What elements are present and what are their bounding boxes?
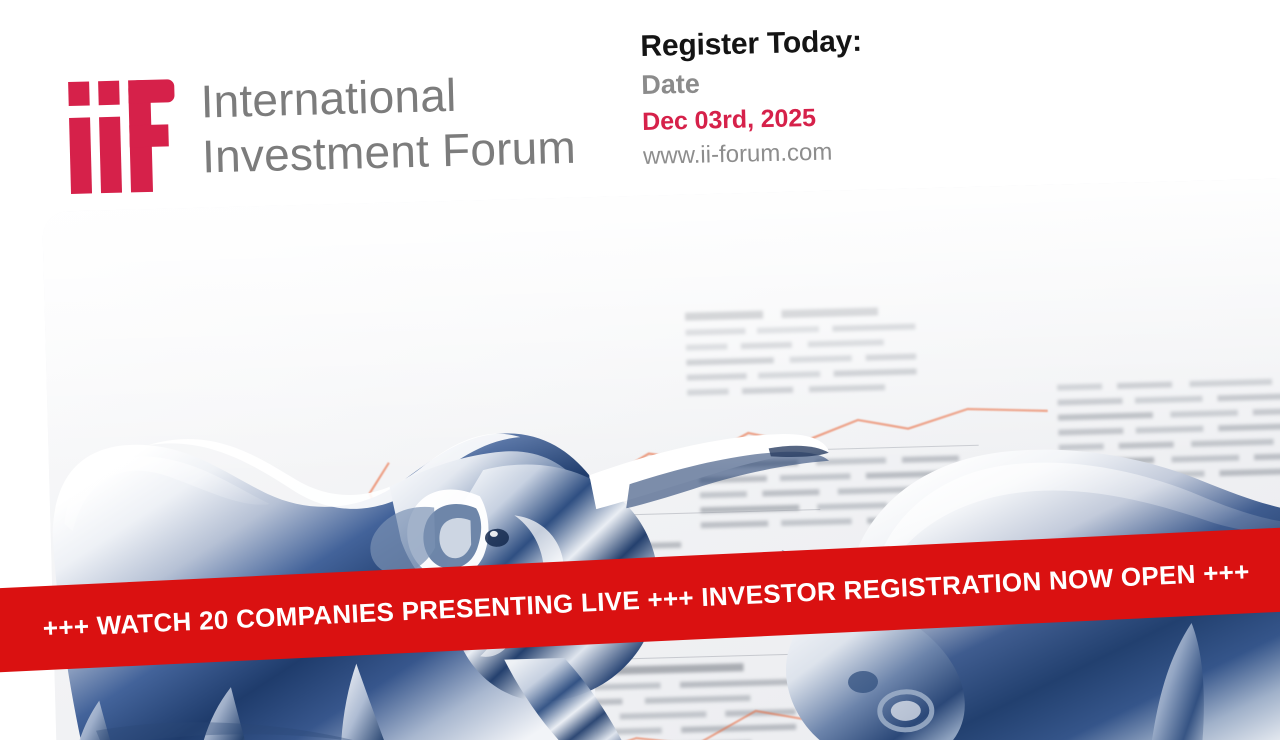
logo-letter-f — [128, 79, 177, 192]
logo-wordmark-line1: International — [200, 65, 575, 130]
register-today-heading: Register Today: — [640, 23, 862, 66]
logo-wordmark-line2: Investment Forum — [201, 120, 576, 185]
register-info-block: Register Today: Date Dec 03rd, 2025 www.… — [640, 23, 865, 173]
logo-letter-i-second — [98, 81, 122, 194]
promo-banner-stage: International Investment Forum Register … — [0, 0, 1280, 740]
logo-wordmark: International Investment Forum — [200, 65, 577, 185]
logo-letter-i-first — [68, 81, 92, 194]
website-url[interactable]: www.ii-forum.com — [643, 135, 865, 173]
iif-logomark-icon — [68, 79, 177, 194]
date-label: Date — [641, 61, 863, 104]
event-date-value: Dec 03rd, 2025 — [642, 99, 864, 140]
iif-logo[interactable]: International Investment Forum — [68, 65, 577, 194]
